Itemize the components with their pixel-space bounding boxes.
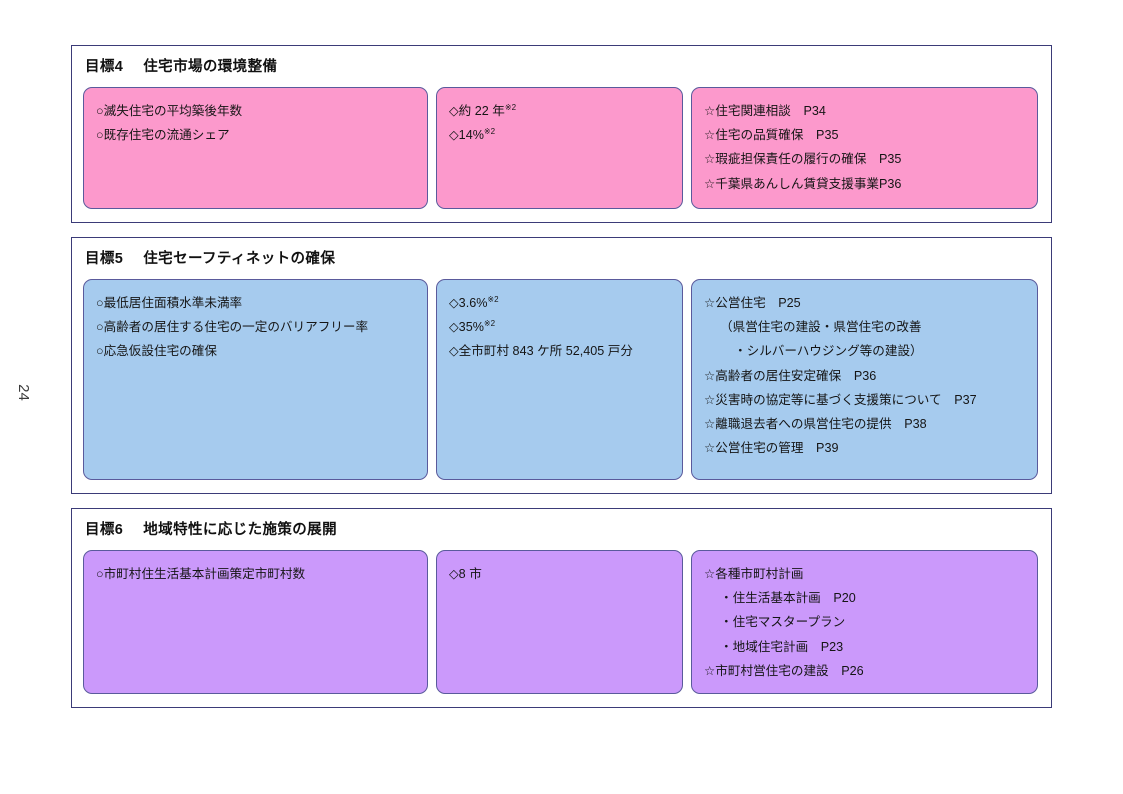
goal-5-values-card: ◇3.6%※2 ◇35%※2 ◇全市町村 843 ケ所 52,405 戸分 (436, 279, 683, 480)
value-note: ※2 (484, 319, 495, 328)
value-note: ※2 (505, 103, 516, 112)
value-text: ◇35% (449, 320, 484, 334)
value-note: ※2 (487, 295, 498, 304)
value-item: ◇35%※2 (449, 315, 670, 339)
goal-6-body: ○市町村住生活基本計画策定市町村数 ◇8 市 ☆各種市町村計画 ・住生活基本計画… (72, 546, 1051, 707)
goal-5-indicators-card: ○最低居住面積水準未満率 ○高齢者の居住する住宅の一定のバリアフリー率 ○応急仮… (83, 279, 428, 480)
goal-6-header: 目標6地域特性に応じた施策の展開 (72, 509, 1051, 546)
measure-item: ☆高齢者の居住安定確保 P36 (704, 364, 1025, 388)
goal-4-number: 目標4 (85, 59, 123, 75)
goal-4-title: 住宅市場の環境整備 (143, 59, 277, 75)
goal-4-header: 目標4住宅市場の環境整備 (72, 46, 1051, 83)
measure-item: ☆各種市町村計画 (704, 562, 1025, 586)
goal-4-indicators-card: ○滅失住宅の平均築後年数 ○既存住宅の流通シェア (83, 87, 428, 209)
goal-6-title: 地域特性に応じた施策の展開 (143, 522, 337, 538)
measure-item: ・住宅マスタープラン (704, 610, 1025, 634)
measure-item: ☆離職退去者への県営住宅の提供 P38 (704, 412, 1025, 436)
measure-item: ☆公営住宅 P25 (704, 291, 1025, 315)
value-item: ◇14%※2 (449, 123, 670, 147)
indicator-item: ○高齢者の居住する住宅の一定のバリアフリー率 (96, 315, 415, 339)
value-note: ※2 (484, 127, 495, 136)
value-item: ◇8 市 (449, 562, 670, 586)
measure-item: ☆住宅の品質確保 P35 (704, 123, 1025, 147)
value-item: ◇約 22 年※2 (449, 99, 670, 123)
measure-item: ☆災害時の協定等に基づく支援策について P37 (704, 388, 1025, 412)
goal-section-6: 目標6地域特性に応じた施策の展開 ○市町村住生活基本計画策定市町村数 ◇8 市 … (71, 508, 1052, 708)
goal-6-number: 目標6 (85, 522, 123, 538)
indicator-item: ○市町村住生活基本計画策定市町村数 (96, 562, 415, 586)
value-item: ◇3.6%※2 (449, 291, 670, 315)
value-item: ◇全市町村 843 ケ所 52,405 戸分 (449, 339, 670, 363)
indicator-item: ○最低居住面積水準未満率 (96, 291, 415, 315)
goal-6-indicators-card: ○市町村住生活基本計画策定市町村数 (83, 550, 428, 694)
goal-5-measures-card: ☆公営住宅 P25 （県営住宅の建設・県営住宅の改善 ・シルバーハウジング等の建… (691, 279, 1038, 480)
goal-6-values-card: ◇8 市 (436, 550, 683, 694)
goals-sheet: 目標4住宅市場の環境整備 ○滅失住宅の平均築後年数 ○既存住宅の流通シェア ◇約… (71, 45, 1052, 722)
goal-section-4: 目標4住宅市場の環境整備 ○滅失住宅の平均築後年数 ○既存住宅の流通シェア ◇約… (71, 45, 1052, 223)
goal-5-number: 目標5 (85, 251, 123, 267)
measure-item: ・住生活基本計画 P20 (704, 586, 1025, 610)
indicator-item: ○応急仮設住宅の確保 (96, 339, 415, 363)
goal-5-header: 目標5住宅セーフティネットの確保 (72, 238, 1051, 275)
page-number: 24 (8, 362, 38, 422)
goal-section-5: 目標5住宅セーフティネットの確保 ○最低居住面積水準未満率 ○高齢者の居住する住… (71, 237, 1052, 494)
goal-5-title: 住宅セーフティネットの確保 (143, 251, 335, 267)
measure-item: ☆市町村営住宅の建設 P26 (704, 659, 1025, 683)
indicator-item: ○滅失住宅の平均築後年数 (96, 99, 415, 123)
measure-item: ☆公営住宅の管理 P39 (704, 436, 1025, 460)
goal-4-measures-card: ☆住宅関連相談 P34 ☆住宅の品質確保 P35 ☆瑕疵担保責任の履行の確保 P… (691, 87, 1038, 209)
measure-item: （県営住宅の建設・県営住宅の改善 (704, 315, 1025, 339)
value-text: ◇8 市 (449, 567, 482, 581)
goal-4-body: ○滅失住宅の平均築後年数 ○既存住宅の流通シェア ◇約 22 年※2 ◇14%※… (72, 83, 1051, 222)
value-text: ◇3.6% (449, 296, 487, 310)
value-text: ◇14% (449, 128, 484, 142)
goal-4-values-card: ◇約 22 年※2 ◇14%※2 (436, 87, 683, 209)
measure-item: ☆住宅関連相談 P34 (704, 99, 1025, 123)
goal-5-body: ○最低居住面積水準未満率 ○高齢者の居住する住宅の一定のバリアフリー率 ○応急仮… (72, 275, 1051, 493)
measure-item: ☆千葉県あんしん賃貸支援事業P36 (704, 172, 1025, 196)
measure-item: ・シルバーハウジング等の建設） (704, 339, 1025, 363)
value-text: ◇約 22 年 (449, 104, 505, 118)
goal-6-measures-card: ☆各種市町村計画 ・住生活基本計画 P20 ・住宅マスタープラン ・地域住宅計画… (691, 550, 1038, 694)
measure-item: ☆瑕疵担保責任の履行の確保 P35 (704, 147, 1025, 171)
value-text: ◇全市町村 843 ケ所 52,405 戸分 (449, 344, 633, 358)
measure-item: ・地域住宅計画 P23 (704, 635, 1025, 659)
indicator-item: ○既存住宅の流通シェア (96, 123, 415, 147)
